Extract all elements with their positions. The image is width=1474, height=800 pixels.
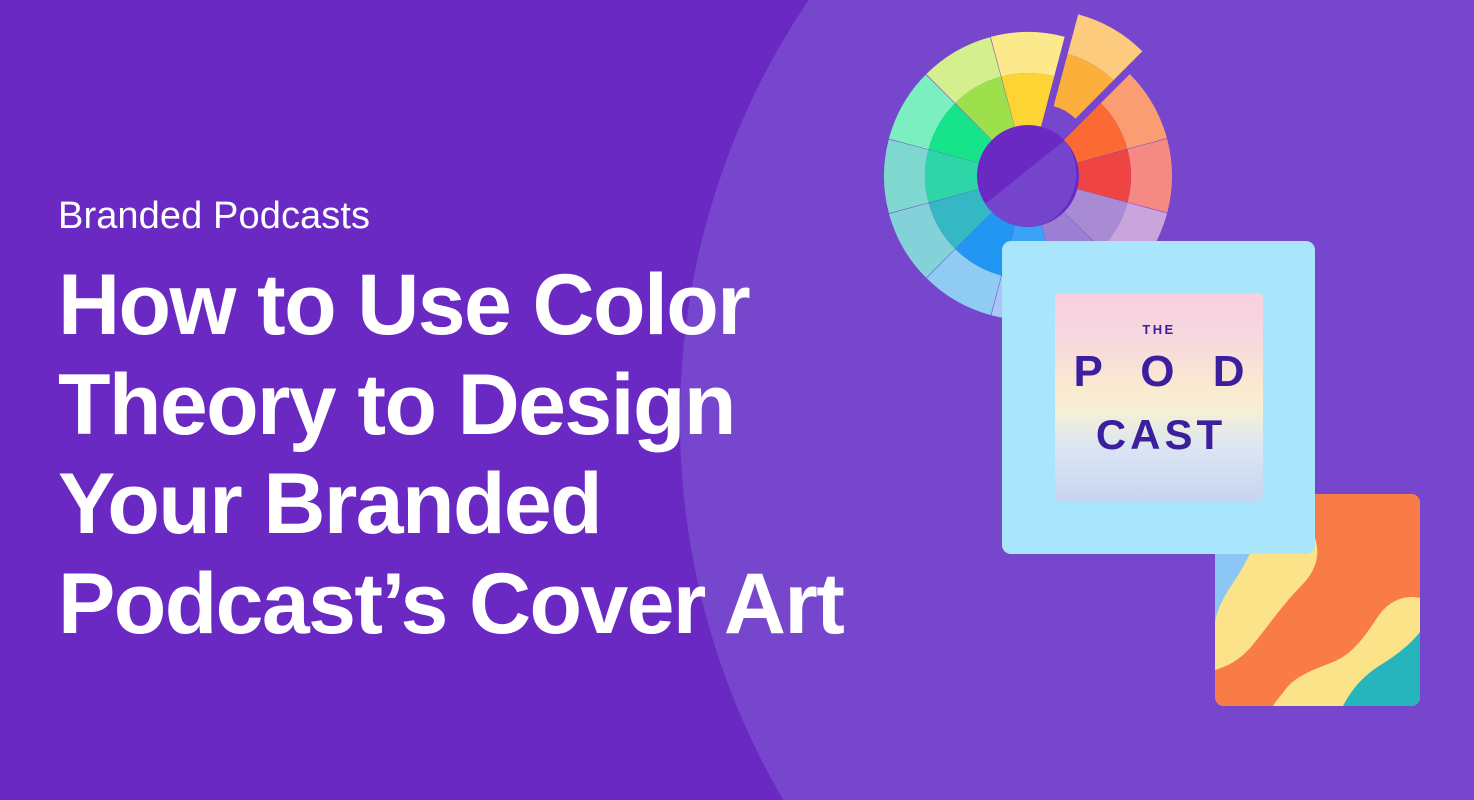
title-line-4: Podcast’s Cover Art — [58, 555, 1058, 655]
podcast-cover-pod-label: P O D — [1055, 350, 1263, 394]
color-wheel-outer-segment-3 — [1127, 139, 1172, 213]
podcast-cover-text: THE P O D CAST — [1055, 323, 1263, 456]
hero-banner: THE P O D CAST Branded Podcasts How to U… — [0, 0, 1474, 800]
podcast-cover-artwork: THE P O D CAST — [1055, 293, 1263, 501]
podcast-cover-the-label: THE — [1055, 323, 1263, 336]
hero-text-block: Branded Podcasts How to Use Color Theory… — [58, 196, 1058, 655]
title-line-2: Theory to Design — [58, 356, 1058, 456]
podcast-cover-cast-label: CAST — [1055, 414, 1263, 456]
title-line-1: How to Use Color — [58, 256, 1058, 356]
title-line-3: Your Branded — [58, 455, 1058, 555]
category-eyebrow: Branded Podcasts — [58, 196, 1058, 238]
color-wheel-outer-segment-0 — [991, 32, 1065, 77]
page-title: How to Use Color Theory to Design Your B… — [58, 256, 1058, 655]
